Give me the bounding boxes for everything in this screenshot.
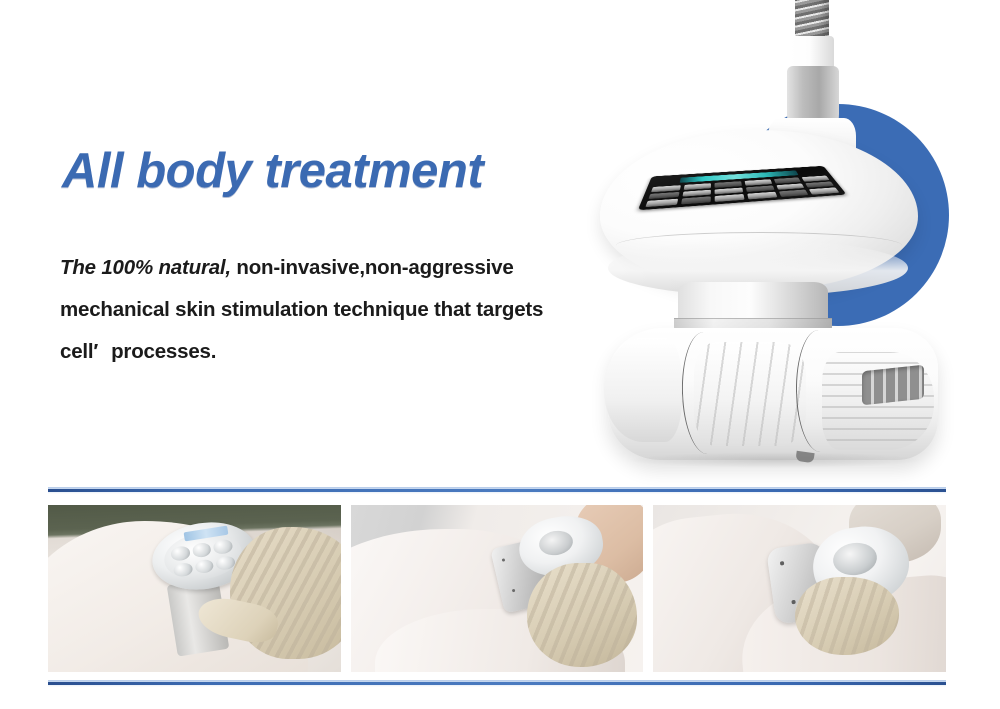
panel-key[interactable] bbox=[651, 185, 681, 192]
treatment-photo-leg[interactable] bbox=[653, 505, 946, 672]
panel-key[interactable] bbox=[645, 199, 677, 207]
panel-key[interactable] bbox=[715, 194, 745, 202]
panel-key[interactable] bbox=[683, 183, 711, 190]
body-copy-line2: mechanical skin stimulation technique th… bbox=[60, 298, 543, 321]
panel-key[interactable] bbox=[809, 188, 839, 195]
handpiece-key bbox=[173, 561, 194, 577]
device-left-cap bbox=[604, 338, 682, 442]
product-feature-banner: All body treatment The 100% natural, non… bbox=[0, 0, 1000, 709]
divider-core bbox=[48, 489, 946, 492]
panel-key[interactable] bbox=[802, 176, 830, 182]
handpiece-key bbox=[191, 542, 212, 558]
panel-key[interactable] bbox=[745, 179, 772, 185]
panel-key[interactable] bbox=[779, 190, 809, 197]
divider-bottom bbox=[48, 680, 946, 687]
page-title: All body treatment bbox=[62, 143, 483, 199]
device-illustration bbox=[590, 0, 970, 490]
photo-strip bbox=[48, 505, 946, 672]
handpiece-key bbox=[170, 545, 191, 561]
body-copy-line3-suffix: processes. bbox=[111, 340, 216, 363]
panel-key[interactable] bbox=[681, 197, 711, 205]
panel-key[interactable] bbox=[774, 177, 802, 183]
treatment-photo-back[interactable] bbox=[48, 505, 341, 672]
body-copy-emphasis: The 100% natural, bbox=[60, 256, 231, 279]
body-copy-line1-rest: non-invasive,non-aggressive bbox=[231, 256, 514, 279]
panel-key[interactable] bbox=[715, 181, 742, 188]
body-copy-line3-prefix: cell′ bbox=[60, 340, 98, 363]
handpiece-key bbox=[213, 538, 234, 554]
handpiece-key bbox=[194, 558, 215, 574]
cable-hose-icon bbox=[795, 0, 829, 40]
gloved-hand bbox=[527, 563, 637, 667]
divider-top bbox=[48, 487, 946, 494]
device-roller-vent bbox=[862, 365, 924, 406]
treatment-photo-thigh[interactable] bbox=[351, 505, 644, 672]
device-head-seam bbox=[616, 232, 902, 259]
panel-key[interactable] bbox=[747, 192, 777, 200]
body-copy: The 100% natural, non-invasive,non-aggre… bbox=[60, 247, 640, 373]
device-shadow bbox=[630, 452, 920, 468]
divider-core bbox=[48, 682, 946, 685]
